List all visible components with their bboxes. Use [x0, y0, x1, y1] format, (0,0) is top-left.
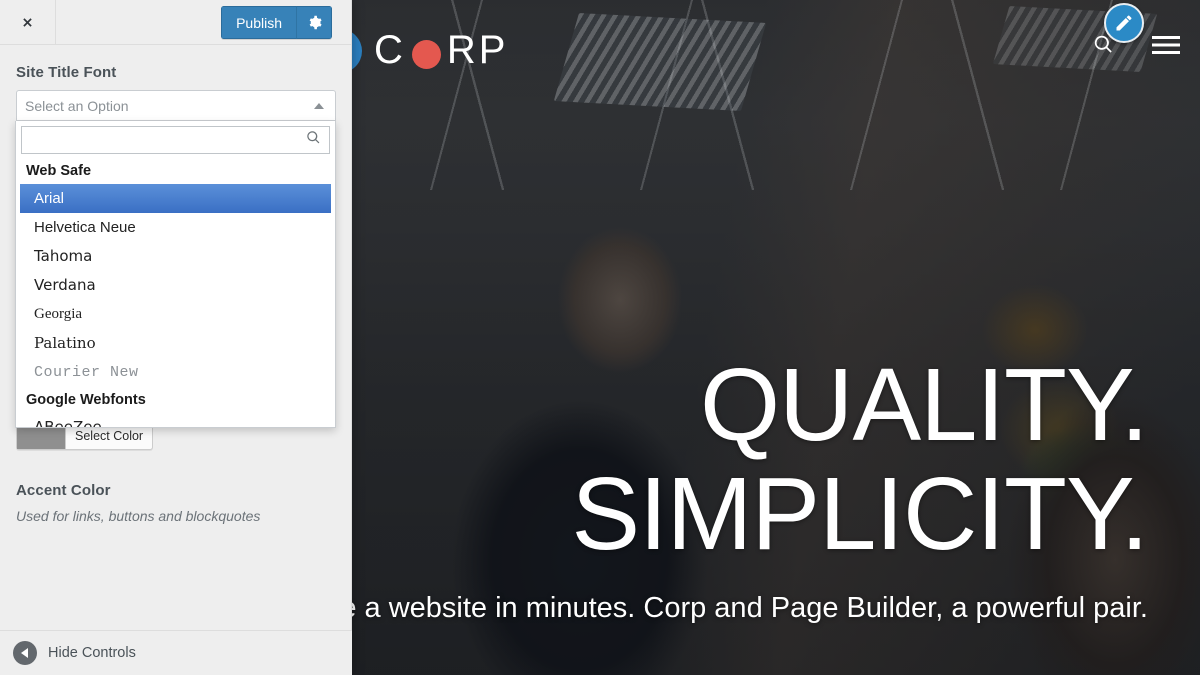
font-option-verdana[interactable]: Verdana	[16, 271, 335, 300]
font-option-palatino[interactable]: Palatino	[16, 329, 335, 358]
font-search-input[interactable]	[30, 132, 306, 148]
font-select-box[interactable]: Select an Option	[16, 90, 336, 121]
control-site-title-font: Site Title Font Select an Option	[16, 64, 336, 121]
control-description: Used for links, buttons and blockquotes	[16, 508, 336, 524]
font-search-wrapper	[16, 121, 335, 158]
customizer-sidebar: Publish Site Title Font Select an Option	[0, 0, 352, 675]
font-option-georgia[interactable]: Georgia	[16, 300, 335, 329]
pencil-edit-icon[interactable]	[1104, 3, 1144, 43]
control-accent-color: Accent Color Used for links, buttons and…	[16, 482, 336, 524]
logo-text-after: RP	[447, 28, 509, 73]
search-icon	[306, 130, 321, 150]
font-option-helvetica-neue[interactable]: Helvetica Neue	[16, 213, 335, 242]
font-option-abeezee[interactable]: ABeeZee	[16, 413, 335, 427]
publish-action-group: Publish	[221, 6, 332, 39]
logo-dot-icon	[412, 40, 441, 69]
control-label: Site Title Font	[16, 64, 336, 81]
publish-button[interactable]: Publish	[221, 6, 296, 39]
chevron-left-circle-icon	[13, 641, 37, 665]
hide-controls-button[interactable]: Hide Controls	[0, 630, 352, 675]
customizer-controls: Site Title Font Select an Option	[0, 46, 352, 630]
font-select-placeholder: Select an Option	[25, 98, 314, 114]
caret-up-icon	[314, 103, 324, 109]
control-label: Accent Color	[16, 482, 336, 499]
font-option-arial[interactable]: Arial	[20, 184, 331, 213]
font-select-dropdown: Web Safe Arial Helvetica Neue Tahoma Ver…	[15, 121, 336, 428]
option-group-label: Google Webfonts	[16, 387, 335, 413]
close-icon[interactable]	[0, 0, 56, 45]
font-select-wrapper: Select an Option Web Safe	[16, 90, 336, 121]
customizer-topbar: Publish	[0, 0, 351, 45]
font-option-tahoma[interactable]: Tahoma	[16, 242, 335, 271]
font-search-field[interactable]	[21, 126, 330, 154]
font-option-courier-new[interactable]: Courier New	[16, 358, 335, 387]
option-group-label: Web Safe	[16, 158, 335, 184]
gear-icon[interactable]	[296, 6, 332, 39]
logo-text-before: C	[374, 28, 406, 73]
hamburger-menu-icon[interactable]	[1152, 35, 1180, 60]
font-option-list[interactable]: Web Safe Arial Helvetica Neue Tahoma Ver…	[16, 158, 335, 427]
hide-controls-label: Hide Controls	[48, 645, 136, 661]
